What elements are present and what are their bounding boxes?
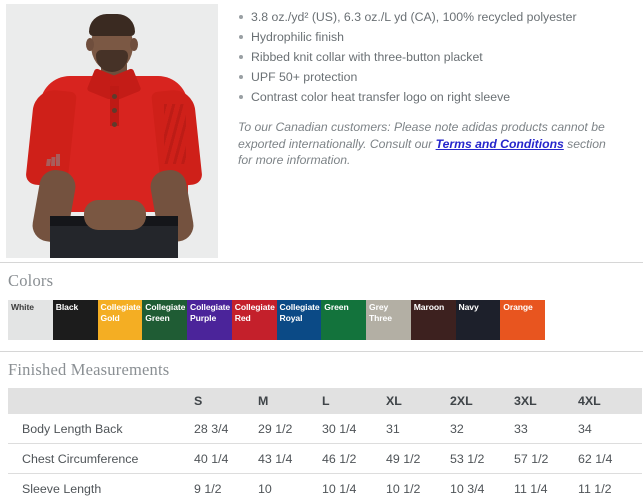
color-swatch-collegiate-red[interactable]: Collegiate Red [232,300,277,340]
cell-sleeve-m: 10 [258,474,322,503]
cell-sleeve-4xl: 11 1/2 [578,474,642,503]
color-swatch-black[interactable]: Black [53,300,98,340]
swatch-label: Grey Three [369,302,410,323]
column-header-4xl: 4XL [578,388,642,414]
product-image-container [0,0,226,260]
column-header-m: M [258,388,322,414]
color-swatch-white[interactable]: White [8,300,53,340]
measurements-section-title: Finished Measurements [0,352,643,380]
swatch-label: Collegiate Purple [190,302,231,323]
model-hands [84,200,146,230]
table-header: S M L XL 2XL 3XL 4XL [8,388,642,414]
swatch-label: Orange [503,302,544,313]
row-label-body-length-back: Body Length Back [8,414,194,444]
column-header-s: S [194,388,258,414]
swatch-label: Collegiate Green [145,302,186,323]
cell-chest-l: 46 1/2 [322,444,386,474]
swatch-label: Collegiate Red [235,302,276,323]
table-body: Body Length Back 28 3/4 29 1/2 30 1/4 31… [8,414,642,503]
column-header-3xl: 3XL [514,388,578,414]
cell-body-length-m: 29 1/2 [258,414,322,444]
canadian-customers-notice: To our Canadian customers: Please note a… [238,119,618,169]
table-header-row: S M L XL 2XL 3XL 4XL [8,388,642,414]
swatch-label: Maroon [414,302,455,313]
cell-sleeve-l: 10 1/4 [322,474,386,503]
table-row: Chest Circumference 40 1/4 43 1/4 46 1/2… [8,444,642,474]
swatch-label: Collegiate Gold [101,302,142,323]
finished-measurements-table: S M L XL 2XL 3XL 4XL Body Length Back 28… [8,388,642,503]
cell-body-length-xl: 31 [386,414,450,444]
feature-item: Contrast color heat transfer logo on rig… [238,89,637,105]
color-swatch-maroon[interactable]: Maroon [411,300,456,340]
cell-body-length-l: 30 1/4 [322,414,386,444]
swatch-label: White [11,302,52,313]
swatch-label: Collegiate Royal [280,302,321,323]
product-photo[interactable] [6,4,218,258]
feature-item: Ribbed knit collar with three-button pla… [238,49,637,65]
cell-chest-xl: 49 1/2 [386,444,450,474]
row-label-chest-circumference: Chest Circumference [8,444,194,474]
model-ear-right [130,38,138,51]
feature-list: 3.8 oz./yd² (US), 6.3 oz./L yd (CA), 100… [238,9,637,105]
cell-sleeve-xl: 10 1/2 [386,474,450,503]
color-swatch-navy[interactable]: Navy [456,300,501,340]
feature-item: Hydrophilic finish [238,29,637,45]
placket-button [112,94,117,99]
color-swatch-collegiate-green[interactable]: Collegiate Green [142,300,187,340]
column-header-measurement [8,388,194,414]
swatch-label: Navy [459,302,500,313]
model-hair [89,14,135,36]
swatch-label: Green [324,302,365,313]
color-swatch-collegiate-gold[interactable]: Collegiate Gold [98,300,143,340]
adidas-logo-icon [46,154,60,166]
placket-button [112,122,117,127]
cell-chest-4xl: 62 1/4 [578,444,642,474]
cell-body-length-4xl: 34 [578,414,642,444]
cell-chest-3xl: 57 1/2 [514,444,578,474]
column-header-xl: XL [386,388,450,414]
swatch-label: Black [56,302,97,313]
table-row: Body Length Back 28 3/4 29 1/2 30 1/4 31… [8,414,642,444]
cell-body-length-3xl: 33 [514,414,578,444]
feature-item: 3.8 oz./yd² (US), 6.3 oz./L yd (CA), 100… [238,9,637,25]
terms-and-conditions-link[interactable]: Terms and Conditions [436,137,564,151]
cell-sleeve-2xl: 10 3/4 [450,474,514,503]
product-details: 3.8 oz./yd² (US), 6.3 oz./L yd (CA), 100… [226,0,643,262]
color-swatch-green[interactable]: Green [321,300,366,340]
cell-sleeve-3xl: 11 1/4 [514,474,578,503]
colors-section-title: Colors [0,263,643,291]
feature-item: UPF 50+ protection [238,69,637,85]
color-swatch-grey-three[interactable]: Grey Three [366,300,411,340]
table-row: Sleeve Length 9 1/2 10 10 1/4 10 1/2 10 … [8,474,642,503]
placket-button [112,108,117,113]
color-swatch-row: White Black Collegiate Gold Collegiate G… [8,300,545,340]
column-header-l: L [322,388,386,414]
cell-body-length-s: 28 3/4 [194,414,258,444]
cell-chest-s: 40 1/4 [194,444,258,474]
cell-body-length-2xl: 32 [450,414,514,444]
cell-chest-m: 43 1/4 [258,444,322,474]
adidas-sleeve-stripes [164,104,186,164]
cell-sleeve-s: 9 1/2 [194,474,258,503]
column-header-2xl: 2XL [450,388,514,414]
color-swatch-collegiate-royal[interactable]: Collegiate Royal [277,300,322,340]
polo-placket [110,86,119,126]
model-ear-left [86,38,94,51]
row-label-sleeve-length: Sleeve Length [8,474,194,503]
cell-chest-2xl: 53 1/2 [450,444,514,474]
color-swatch-collegiate-purple[interactable]: Collegiate Purple [187,300,232,340]
product-overview: 3.8 oz./yd² (US), 6.3 oz./L yd (CA), 100… [0,0,643,262]
color-swatch-orange[interactable]: Orange [500,300,545,340]
